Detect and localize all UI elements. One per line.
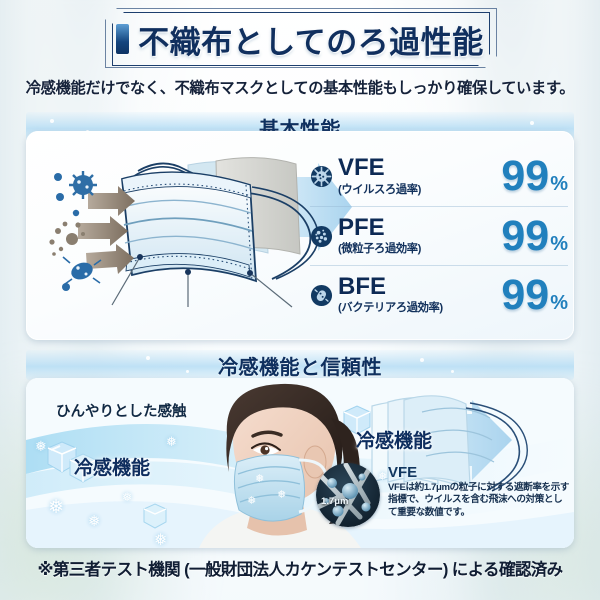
sparkle-dot <box>451 370 454 373</box>
metric-description: (微粒子ろ過効率) <box>338 240 501 256</box>
page-title: 不織布としてのろ過性能 <box>138 17 484 62</box>
footnote-test-institution: ※第三者テスト機関 (一般財団法人カケンテストセンター) による確認済み <box>0 556 600 580</box>
metric-row-vfe: VFE (ウイルスろ過率) 99 % <box>310 147 568 206</box>
virus-icon <box>310 165 333 188</box>
cooling-panel: ❅ ❅ ❅ ❅ ❅ ❅ ❅ ❅ ❅ ❅ <box>26 378 574 548</box>
sparkle-dot <box>530 121 534 125</box>
svg-text:❅: ❅ <box>247 494 256 507</box>
sparkle-dot <box>50 119 54 123</box>
snowflake-icon: ❅ <box>122 490 132 504</box>
metric-value: 99 <box>501 276 549 315</box>
basic-performance-panel: VFE (ウイルスろ過率) 99 % PFE (微粒子ろ過効率) <box>26 131 574 340</box>
metric-unit: % <box>550 173 568 196</box>
metric-code: BFE <box>338 275 501 299</box>
snowflake-icon: ❅ <box>48 496 64 519</box>
cooling-touch-label: ひんやりとした感触 <box>56 400 187 421</box>
metric-code: VFE <box>338 156 501 180</box>
metric-row-pfe: PFE (微粒子ろ過効率) 99 % <box>310 206 568 265</box>
fiber-micrograph-icon: 1.7μm <box>316 463 380 527</box>
particle-icon <box>310 225 333 248</box>
svg-text:❅: ❅ <box>277 488 286 501</box>
vfe-detail-block: 1.7μm VFE VFEは約1.7μmの粒子に対する遮断率を示す指標で、ウイル… <box>316 463 571 527</box>
page-subtitle: 冷感機能だけでなく、不織布マスクとしての基本性能もしっかり確保しています。 <box>0 76 600 98</box>
metric-value: 99 <box>501 217 549 256</box>
metric-description: (ウイルスろ過率) <box>338 181 501 197</box>
metric-row-bfe: BFE (バクテリアろ過効率) 99 % <box>310 265 568 324</box>
micron-label: 1.7μm <box>321 496 348 507</box>
vfe-detail-title: VFE <box>388 465 571 480</box>
svg-text:❅: ❅ <box>255 472 264 485</box>
bacteria-icon <box>310 284 333 307</box>
metrics-list: VFE (ウイルスろ過率) 99 % PFE (微粒子ろ過効率) <box>310 147 568 324</box>
snowflake-icon: ❅ <box>35 438 47 455</box>
section-title-cooling: 冷感機能と信頼性 <box>218 351 382 380</box>
cooling-function-label-left: 冷感機能 <box>74 453 150 480</box>
metric-value: 99 <box>501 157 549 196</box>
metric-unit: % <box>550 233 568 256</box>
snowflake-icon: ❅ <box>154 530 167 548</box>
sparkle-dot <box>186 370 189 373</box>
vfe-detail-body: VFEは約1.7μmの粒子に対する遮断率を示す指標で、ウイルスを含む飛沫への対策… <box>388 482 571 519</box>
sparkle-dot <box>146 356 150 360</box>
metric-unit: % <box>550 292 568 315</box>
metric-description: (バクテリアろ過効率) <box>338 299 501 315</box>
page-title-block: 不織布としてのろ過性能 <box>0 8 600 70</box>
sparkle-dot <box>420 358 424 362</box>
snowflake-icon: ❅ <box>166 434 177 450</box>
blue-square-bullet-icon <box>116 24 129 54</box>
cooling-function-label-right: 冷感機能 <box>356 426 432 453</box>
snowflake-icon: ❅ <box>88 512 101 530</box>
metric-code: PFE <box>338 216 501 240</box>
section-band-cooling: 冷感機能と信頼性 <box>26 350 574 380</box>
